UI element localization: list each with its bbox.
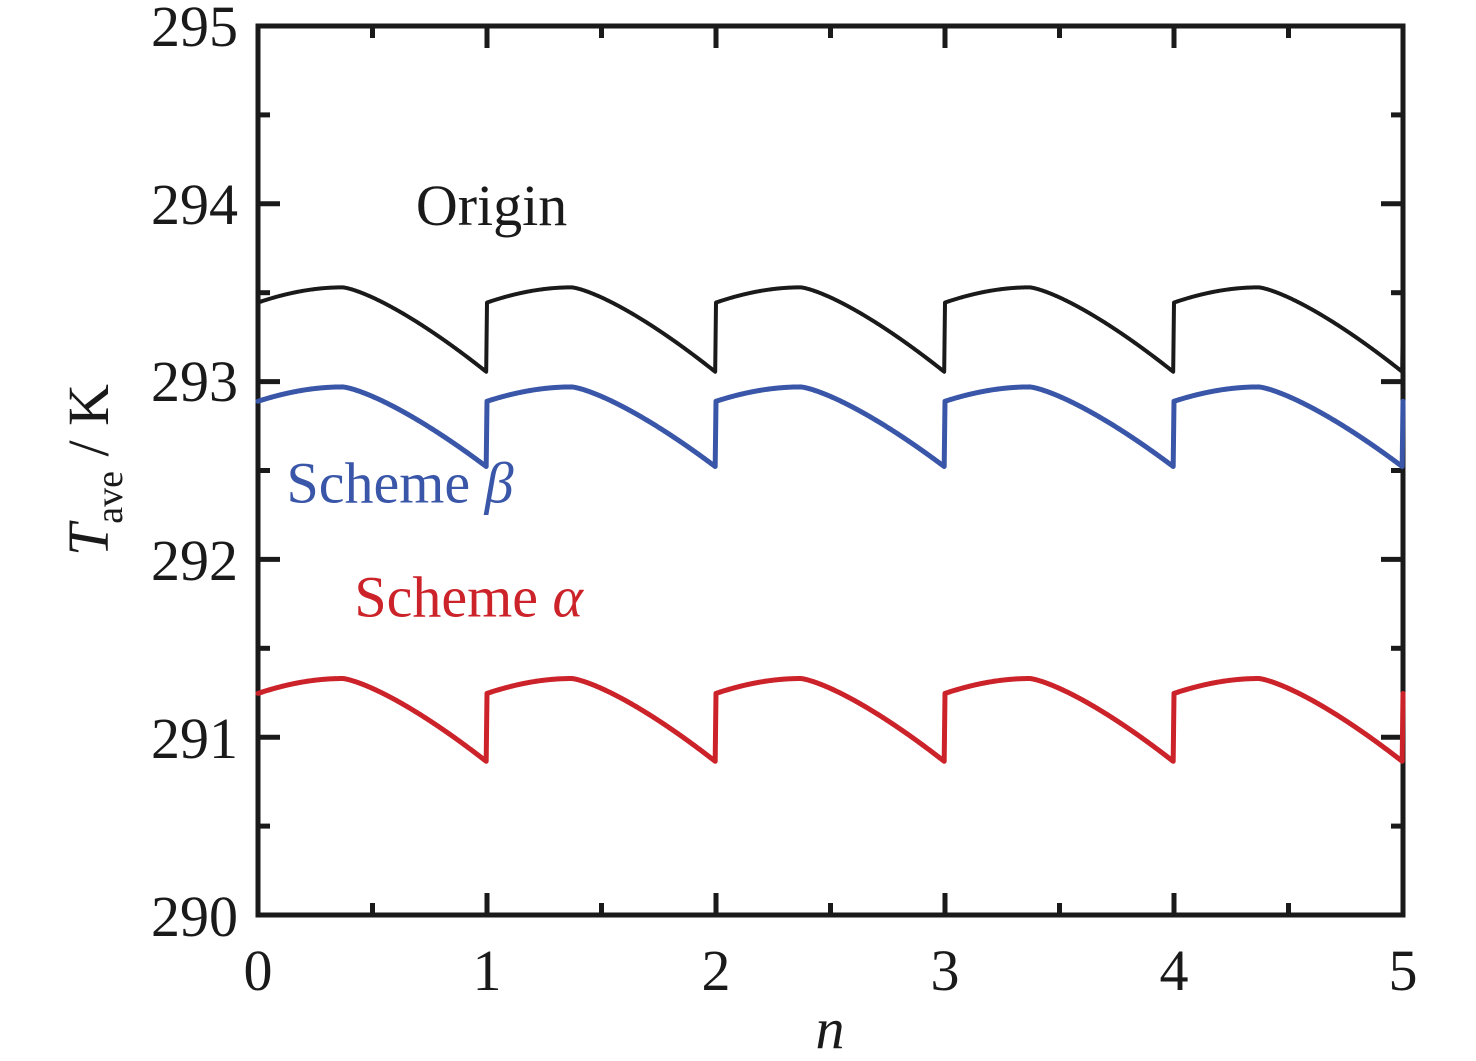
y-axis-symbol: T bbox=[56, 520, 121, 556]
x-tick-label: 3 bbox=[931, 938, 960, 1003]
x-tick-label: 1 bbox=[473, 938, 502, 1003]
series-label-beta-greek: β bbox=[484, 451, 514, 516]
x-tick-label: 4 bbox=[1160, 938, 1189, 1003]
chart-canvas: 295 294 293 292 291 290 0 1 2 3 4 5 n Ta… bbox=[0, 0, 1476, 1061]
y-axis-unit: K bbox=[56, 384, 121, 426]
y-tick-label: 294 bbox=[151, 172, 238, 237]
series-label-alpha-greek: α bbox=[553, 564, 585, 629]
y-tick-label: 290 bbox=[151, 884, 238, 949]
y-axis-title: Tave / K bbox=[56, 384, 131, 556]
curve-origin bbox=[258, 287, 1403, 371]
series-label-beta-prefix: Scheme bbox=[286, 451, 484, 516]
y-axis-separator: / bbox=[56, 426, 121, 471]
y-tick-label: 293 bbox=[151, 349, 238, 414]
figure-container: 295 294 293 292 291 290 0 1 2 3 4 5 n Ta… bbox=[0, 0, 1476, 1061]
data-curves bbox=[258, 287, 1403, 761]
y-tick-labels: 295 294 293 292 291 290 bbox=[151, 0, 238, 949]
x-tick-label: 2 bbox=[702, 938, 731, 1003]
x-tick-labels: 0 1 2 3 4 5 bbox=[244, 938, 1418, 1003]
series-label-alpha-prefix: Scheme bbox=[354, 564, 552, 629]
series-label-scheme-alpha: Scheme α bbox=[354, 564, 584, 629]
x-axis-title: n bbox=[816, 996, 845, 1061]
x-tick-label: 0 bbox=[244, 938, 273, 1003]
y-tick-label: 291 bbox=[151, 706, 238, 771]
y-axis-subscript: ave bbox=[89, 471, 131, 524]
x-tick-label: 5 bbox=[1389, 938, 1418, 1003]
curve-scheme-α bbox=[258, 679, 1403, 762]
y-tick-label: 295 bbox=[151, 0, 238, 59]
y-tick-label: 292 bbox=[151, 528, 238, 593]
series-label-origin: Origin bbox=[416, 173, 567, 238]
series-label-scheme-beta: Scheme β bbox=[286, 451, 513, 516]
series-annotations: Origin Scheme β Scheme α bbox=[286, 173, 584, 629]
svg-text:Tave / K: Tave / K bbox=[56, 384, 131, 556]
